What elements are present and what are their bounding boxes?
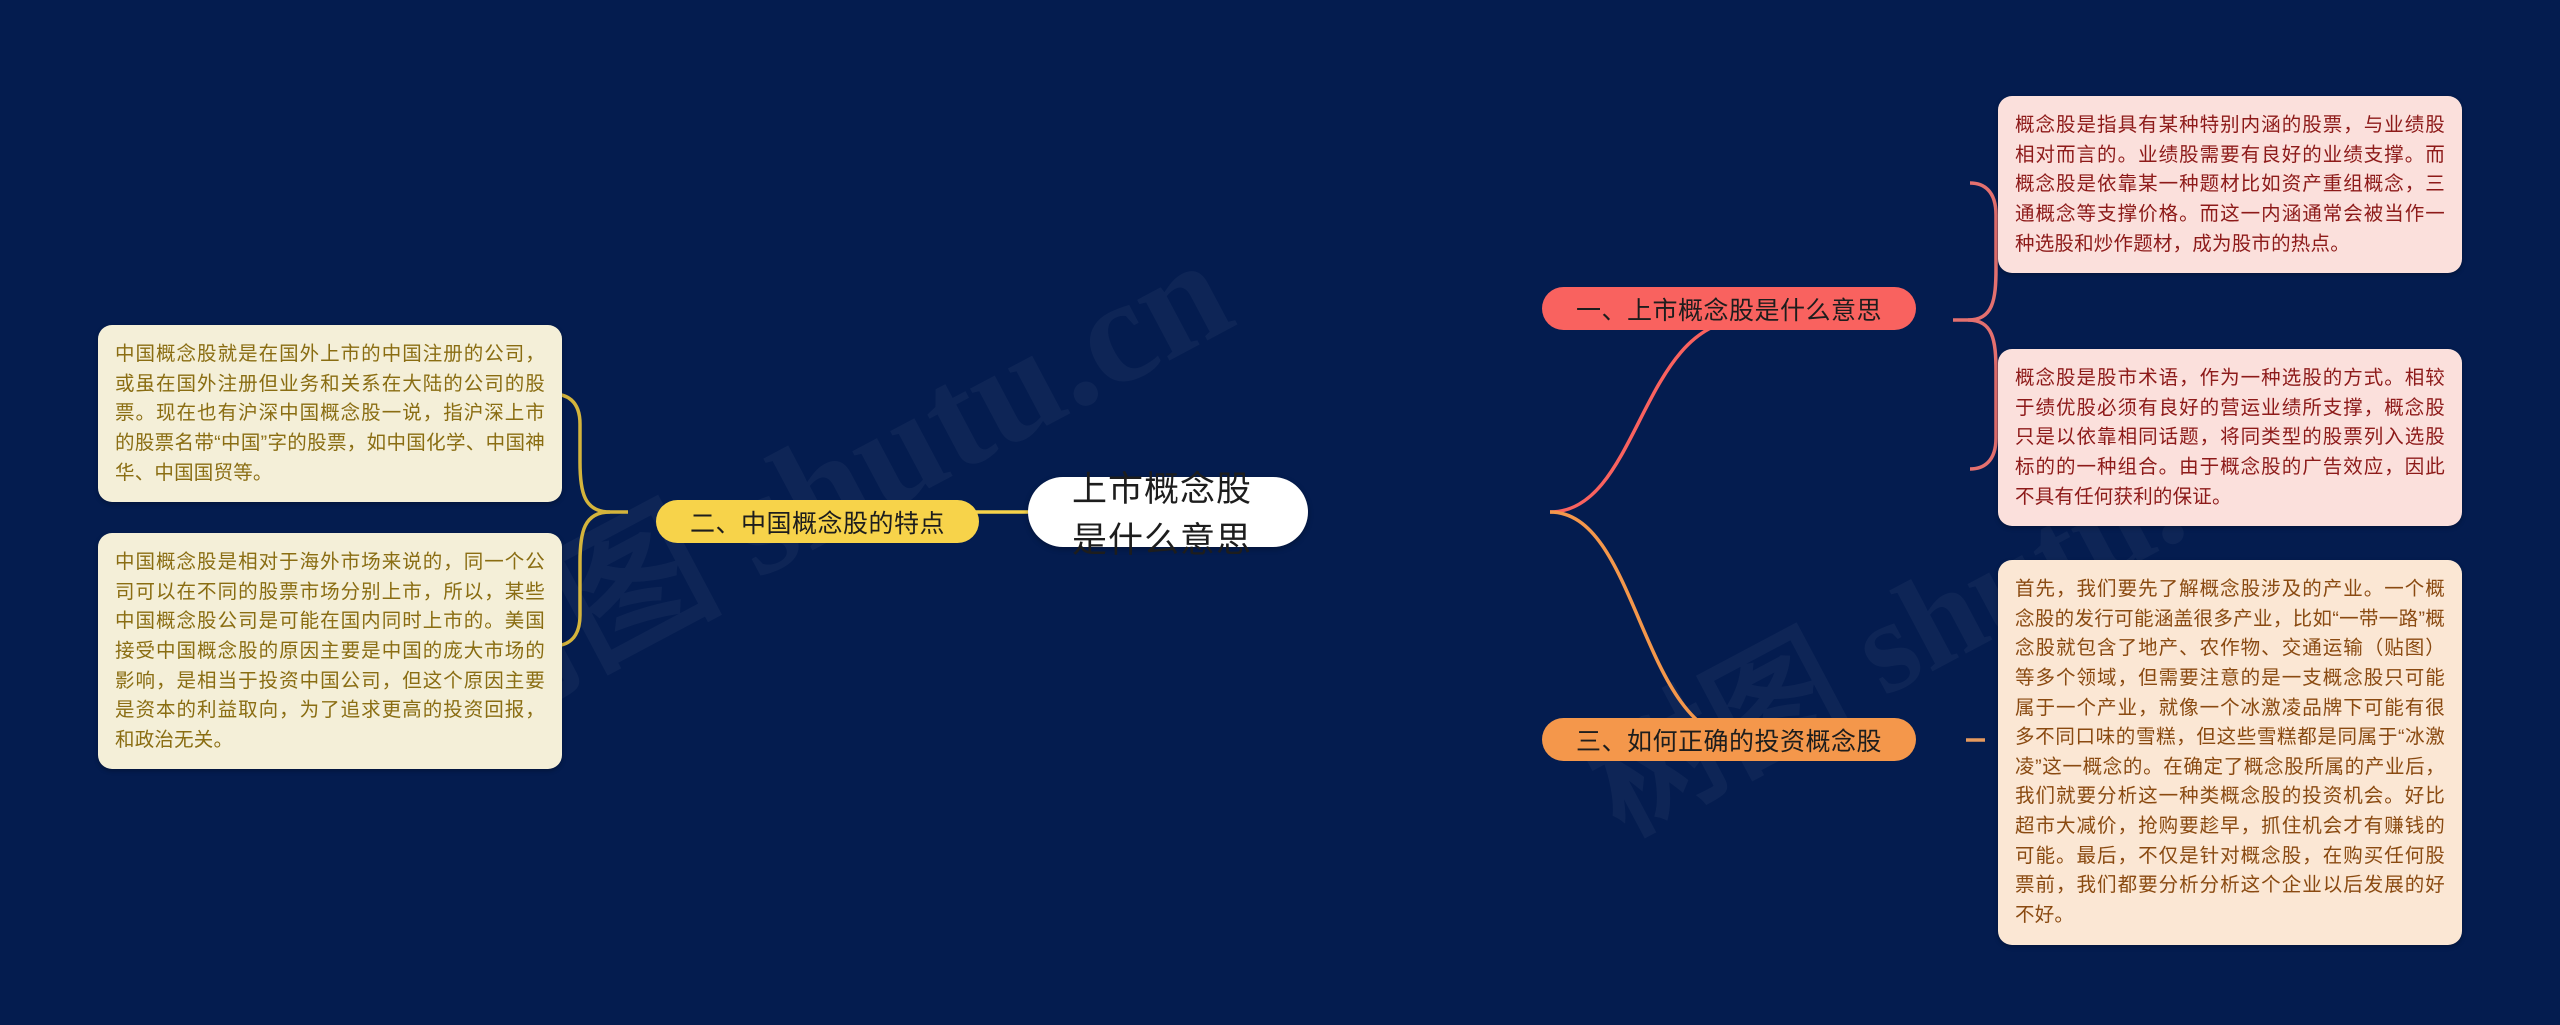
link-branch1-leaf2 xyxy=(1968,320,1996,469)
branch-node-1[interactable]: 一、上市概念股是什么意思 xyxy=(1542,287,1916,330)
leaf-card-1-1[interactable]: 概念股是指具有某种特别内涵的股票，与业绩股相对而言的。业绩股需要有良好的业绩支撑… xyxy=(1998,96,2462,273)
link-branch1-leaf1 xyxy=(1968,183,1996,320)
leaf-card-2-2[interactable]: 中国概念股是相对于海外市场来说的，同一个公司可以在不同的股票市场分别上市，所以，… xyxy=(98,533,562,769)
leaf-card-2-1[interactable]: 中国概念股就是在国外上市的中国注册的公司，或虽在国外注册但业务和关系在大陆的公司… xyxy=(98,325,562,502)
leaf-card-3-1-text: 首先，我们要先了解概念股涉及的产业。一个概念股的发行可能涵盖很多产业，比如“一带… xyxy=(2015,578,2445,926)
branch-node-3-label: 三、如何正确的投资概念股 xyxy=(1576,722,1882,758)
branch-node-2[interactable]: 二、中国概念股的特点 xyxy=(656,500,979,543)
link-root-branch3 xyxy=(1550,512,1745,740)
branch-node-2-label: 二、中国概念股的特点 xyxy=(690,504,945,540)
leaf-card-2-2-text: 中国概念股是相对于海外市场来说的，同一个公司可以在不同的股票市场分别上市，所以，… xyxy=(115,551,545,751)
leaf-card-1-1-text: 概念股是指具有某种特别内涵的股票，与业绩股相对而言的。业绩股需要有良好的业绩支撑… xyxy=(2015,114,2445,255)
branch-node-3[interactable]: 三、如何正确的投资概念股 xyxy=(1542,718,1916,761)
root-node-label: 上市概念股是什么意思 xyxy=(1072,461,1264,563)
leaf-card-3-1[interactable]: 首先，我们要先了解概念股涉及的产业。一个概念股的发行可能涵盖很多产业，比如“一带… xyxy=(1998,560,2462,945)
leaf-card-2-1-text: 中国概念股就是在国外上市的中国注册的公司，或虽在国外注册但业务和关系在大陆的公司… xyxy=(115,343,545,484)
root-node[interactable]: 上市概念股是什么意思 xyxy=(1028,477,1308,547)
leaf-card-1-2[interactable]: 概念股是股市术语，作为一种选股的方式。相较于绩优股必须有良好的营运业绩所支撑，概… xyxy=(1998,349,2462,526)
mindmap-canvas: 树图 shutu.cn 树图 shutu.cn 上市概念股是什么意思 一、上市概… xyxy=(0,0,2560,1025)
link-root-branch1 xyxy=(1550,320,1745,512)
branch-node-1-label: 一、上市概念股是什么意思 xyxy=(1576,291,1882,327)
leaf-card-1-2-text: 概念股是股市术语，作为一种选股的方式。相较于绩优股必须有良好的营运业绩所支撑，概… xyxy=(2015,367,2445,508)
